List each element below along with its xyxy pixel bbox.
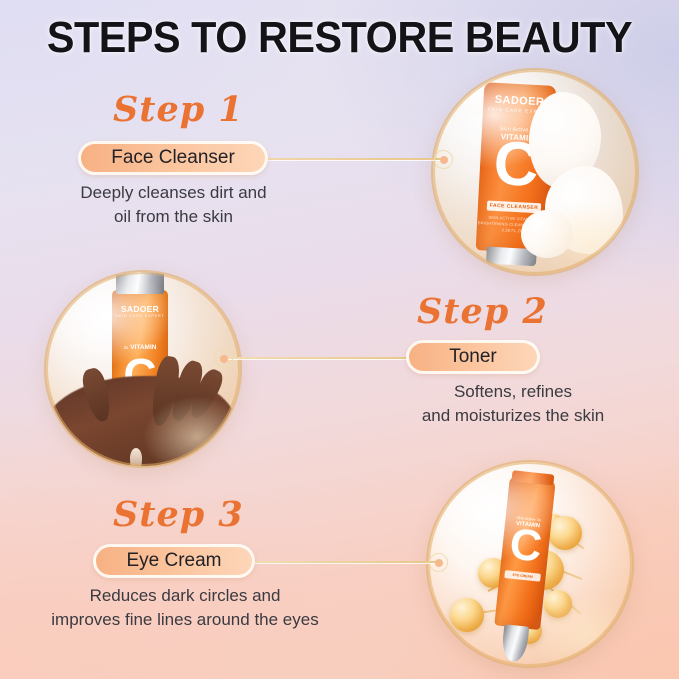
connector-node-1	[434, 150, 453, 169]
connector-node-2	[214, 349, 233, 368]
connector-line-2	[228, 357, 418, 359]
step-label-face-cleanser[interactable]: Face Cleanser	[78, 141, 268, 175]
step-heading-1: Step 1	[113, 89, 244, 130]
step-heading-2: Step 2	[417, 291, 548, 332]
bottle-cap	[116, 272, 164, 294]
product-image-face-cleanser: SADOER SKIN CARE EXPERT Skin Active 3x V…	[433, 70, 637, 274]
step-heading-3: Step 3	[113, 494, 244, 535]
connector-node-3	[429, 553, 448, 572]
product-brand: SADOER	[112, 304, 168, 314]
product-type-tag: EYE CREAM	[504, 570, 541, 582]
page-title: STEPS TO RESTORE BEAUTY	[20, 13, 658, 63]
infographic-poster: STEPS TO RESTORE BEAUTY SADOER SKIN CARE…	[0, 0, 679, 679]
step-label-eye-cream[interactable]: Eye Cream	[93, 544, 255, 578]
vitamin-molecule	[548, 516, 582, 550]
product-image-toner: SADOER SKIN CARE EXPERT 3x VITAMIN C BRI…	[46, 272, 240, 466]
liquid-drip	[130, 448, 142, 466]
step-description-3: Reduces dark circles and improves fine l…	[20, 584, 350, 632]
vitamin-c-letter: C	[501, 522, 551, 571]
product-type-tag: FACE CLEANSER	[487, 201, 541, 214]
vitamin-molecule	[544, 590, 572, 618]
connector-line-3	[245, 561, 440, 563]
vitamin-molecule	[450, 598, 484, 632]
product-image-eye-cream: Skin Active 3x VITAMIN C EYE CREAM	[428, 462, 632, 666]
foam-blob	[521, 210, 573, 258]
product-brand-sub: SKIN CARE EXPERT	[112, 314, 168, 318]
step-label-toner[interactable]: Toner	[406, 340, 540, 374]
step-description-1: Deeply cleanses dirt and oil from the sk…	[40, 181, 307, 229]
step-description-2: Softens, refines and moisturizes the ski…	[373, 380, 653, 428]
